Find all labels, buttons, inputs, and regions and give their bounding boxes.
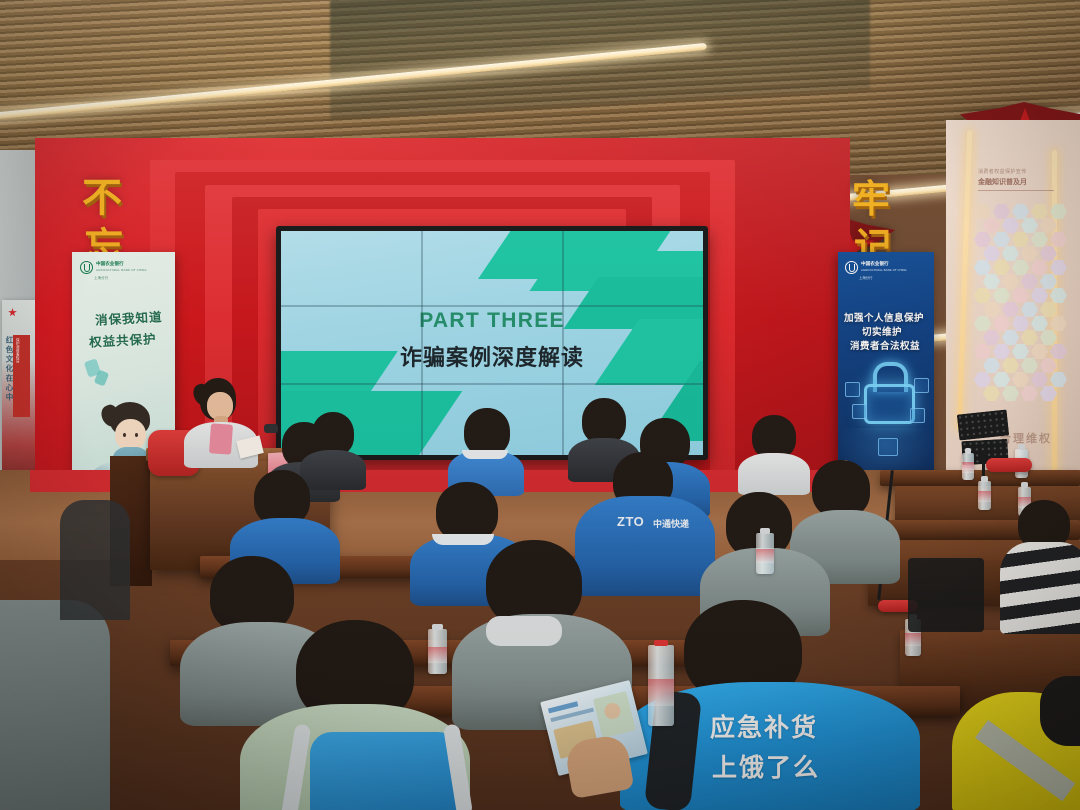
- honeycomb-tile: [1031, 344, 1048, 359]
- honeycomb-tile: [1012, 232, 1029, 247]
- honeycomb-tile: [1021, 358, 1038, 373]
- honeycomb-tile: [1012, 344, 1029, 359]
- slide-heading: 诈骗案例深度解读: [281, 340, 703, 372]
- water-bottle: [648, 640, 674, 726]
- hat-on-seat: [486, 616, 562, 646]
- honeycomb-tile: [974, 372, 991, 387]
- banner-right-line1: 加强个人信息保护: [844, 310, 924, 324]
- abc-branch-label: 上海分行: [94, 276, 108, 281]
- honeycomb-tile: [1002, 218, 1019, 233]
- honeycomb-tile: [1040, 386, 1057, 401]
- honeycomb-tile: [1012, 204, 1029, 219]
- water-bottle: [962, 448, 974, 480]
- honeycomb-tile: [1031, 204, 1048, 219]
- honeycomb-tile: [1002, 330, 1019, 345]
- wall-gold-character: 不: [82, 178, 122, 218]
- honeycomb-tile: [1040, 358, 1057, 373]
- honeycomb-tile: [993, 344, 1010, 359]
- honeycomb-tile: [1040, 302, 1057, 317]
- honeycomb-tile: [993, 288, 1010, 303]
- poster-red-strip: 保护消费者权益: [13, 335, 30, 417]
- polo-collar: [462, 450, 508, 459]
- head: [1040, 676, 1080, 746]
- backpack: [310, 732, 460, 810]
- honeycomb-tile: [1012, 260, 1029, 275]
- banner-right-line2: 切实维护: [862, 324, 902, 338]
- slide-text-block: PART THREE 诈骗案例深度解读: [281, 309, 703, 372]
- honeycomb-tile: [983, 274, 1000, 289]
- honeycomb-tile: [983, 218, 1000, 233]
- striped-shirt: [1000, 542, 1080, 634]
- banner-left-line1: 消保我知道: [95, 306, 163, 329]
- honeycomb-tile: [993, 204, 1010, 219]
- videowall-seam: [562, 231, 564, 455]
- presenter-scarf: [209, 423, 233, 454]
- water-bottle: [756, 528, 774, 574]
- honeycomb-tile: [1050, 288, 1067, 303]
- zto-logo-text: ZTO: [617, 514, 644, 529]
- padlock-icon: [864, 362, 909, 418]
- zto-logo-cn: 中通快递: [653, 517, 689, 530]
- audience-member: [0, 600, 120, 810]
- honeycomb-tile: [1002, 386, 1019, 401]
- honeycomb-tile: [1040, 330, 1057, 345]
- honeycomb-tile: [1050, 204, 1067, 219]
- honeycomb-tile: [1040, 246, 1057, 261]
- audience-member: [448, 408, 524, 492]
- eleme-text-line2: 上饿了么: [712, 748, 820, 784]
- abc-logo-mark: [845, 261, 858, 274]
- scene-photo: 保护消费者权益 红色文化在心中 消费者权益保护宣传 金融知识普及月 合理维权 不…: [0, 0, 1080, 810]
- slide-part-label: PART THREE: [281, 309, 703, 333]
- honeycomb-tile: [1050, 372, 1067, 387]
- honeycomb-tile: [1050, 316, 1067, 331]
- honeycomb-tile: [1040, 274, 1057, 289]
- presenter: [176, 378, 272, 468]
- abc-bank-logo: 中国农业银行 AGRICULTURAL BANK OF CHINA: [80, 261, 147, 274]
- honeycomb-tile: [983, 330, 1000, 345]
- honeycomb-tile: [993, 316, 1010, 331]
- honeycomb-tile: [1002, 358, 1019, 373]
- abc-logo-name-en: AGRICULTURAL BANK OF CHINA: [861, 269, 907, 273]
- honeycomb-tile: [1021, 302, 1038, 317]
- honeycomb-tile: [983, 386, 1000, 401]
- lock-hex-icon: [910, 408, 925, 423]
- honeycomb-tile: [974, 232, 991, 247]
- abc-bank-logo: 中国农业银行 AGRICULTURAL BANK OF CHINA: [845, 261, 907, 274]
- honeycomb-tile: [993, 372, 1010, 387]
- water-bottle: [978, 476, 991, 510]
- honeycomb-tile: [1012, 288, 1029, 303]
- abc-branch-label: 上海分行: [859, 276, 873, 281]
- honeycomb-tile: [1002, 274, 1019, 289]
- videowall-seam: [421, 231, 423, 455]
- audience-member-yellow-vest: [952, 676, 1080, 810]
- honeycomb-tile: [1021, 218, 1038, 233]
- honeycomb-tile: [1031, 260, 1048, 275]
- security-hex-icon: [845, 382, 860, 397]
- abc-logo-name-en: AGRICULTURAL BANK OF CHINA: [96, 269, 147, 273]
- honeycomb-tile: [1021, 330, 1038, 345]
- banner-right-line3: 消费者合法权益: [850, 338, 920, 352]
- poster-calligraphy: 红色文化在心中: [4, 336, 15, 403]
- audience-member-front: [240, 620, 470, 810]
- audience-member: [60, 500, 130, 620]
- shield-hex-icon: [852, 404, 867, 419]
- poster-star-icon: [8, 308, 17, 317]
- honeycomb-tile: [1031, 232, 1048, 247]
- abc-logo-mark: [80, 261, 93, 274]
- honeycomb-tile: [1031, 316, 1048, 331]
- honeycomb-tile: [983, 358, 1000, 373]
- honeycomb-tile: [1021, 274, 1038, 289]
- honeycomb-tile: [1050, 344, 1067, 359]
- wifi-hex-icon: [914, 378, 929, 393]
- honeycomb-tile: [1002, 302, 1019, 317]
- eleme-text-line1: 应急补货: [710, 708, 818, 744]
- honeycomb-tile: [974, 260, 991, 275]
- banner-left-line2: 权益共保护: [89, 328, 157, 351]
- red-chair[interactable]: [986, 458, 1032, 472]
- audience-member: [1000, 500, 1080, 630]
- honeycomb-tile: [1050, 232, 1067, 247]
- honeycomb-tile: [993, 260, 1010, 275]
- honeycomb-tile: [1031, 288, 1048, 303]
- honeycomb-tile: [974, 344, 991, 359]
- videowall-seam: [281, 383, 703, 385]
- honeycomb-tile: [983, 302, 1000, 317]
- honeycomb-tile: [993, 232, 1010, 247]
- honeycomb-tile: [974, 316, 991, 331]
- honeycomb-tile: [1021, 246, 1038, 261]
- honeycomb-tile: [1021, 386, 1038, 401]
- honeycomb-tile: [1012, 372, 1029, 387]
- honeycomb-tile: [1012, 316, 1029, 331]
- honeycomb-tile: [1002, 246, 1019, 261]
- banner-right-privacy-protection: 中国农业银行 AGRICULTURAL BANK OF CHINA 上海分行 加…: [838, 252, 934, 484]
- videowall-seam: [281, 305, 703, 307]
- honeycomb-wall-title: 消费者权益保护宣传 金融知识普及月: [978, 168, 1064, 192]
- honeycomb-tile: [1050, 260, 1067, 275]
- honeycomb-tile: [1031, 372, 1048, 387]
- honeycomb-tile: [974, 204, 991, 219]
- audience-member: [738, 415, 810, 489]
- wall-gold-character: 牢: [852, 180, 890, 218]
- honeycomb-tile: [983, 246, 1000, 261]
- honeycomb-tile: [1040, 218, 1057, 233]
- honeycomb-tile: [974, 288, 991, 303]
